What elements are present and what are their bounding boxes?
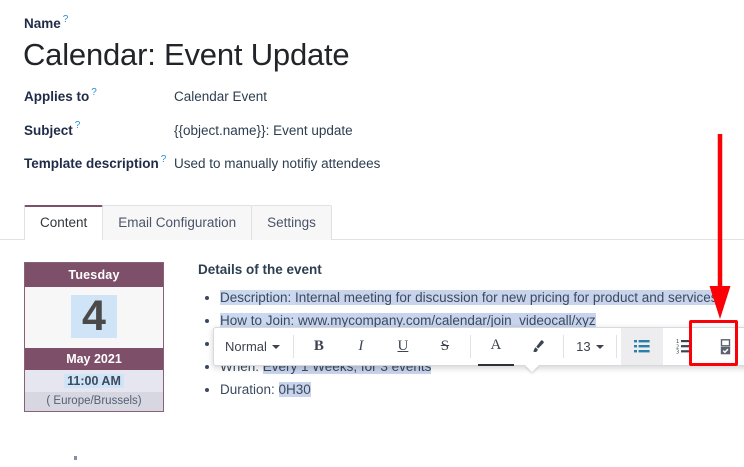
item-prefix: Duration: — [220, 382, 279, 397]
item-value: Internal meeting for discussion for new … — [295, 290, 717, 305]
field-row-subject: Subject? {{object.name}}: Event update — [24, 120, 744, 139]
toolbar-divider — [293, 335, 294, 358]
name-label-text: Name — [24, 16, 61, 31]
card-day-box: 4 — [25, 287, 163, 349]
tab-content[interactable]: Content — [24, 205, 103, 240]
rich-text-toolbar[interactable]: Normal B I U S A 13 — [213, 327, 744, 366]
font-size-dropdown[interactable]: 13 — [568, 328, 612, 365]
name-field-label: Name? — [24, 14, 744, 33]
card-time: 11:00 AM — [25, 370, 163, 392]
applies-to-label: Applies to — [24, 89, 89, 104]
help-icon-name[interactable]: ? — [63, 14, 69, 25]
event-details-heading: Details of the event — [198, 262, 744, 277]
card-time-text: 11:00 AM — [64, 374, 124, 388]
tab-bar: Content Email Configuration Settings — [0, 205, 744, 240]
font-size-label: 13 — [576, 339, 590, 354]
applies-to-label-cell: Applies to? — [24, 87, 174, 106]
item-value: www.mycompany.com/calendar/join_videocal… — [298, 313, 596, 328]
email-template-form-page: Name? Calendar: Event Update Applies to?… — [0, 0, 744, 467]
card-day-of-week: Tuesday — [25, 263, 163, 287]
italic-button[interactable]: I — [340, 328, 382, 365]
unordered-list-icon[interactable] — [621, 328, 663, 365]
card-timezone: ( Europe/Brussels) — [25, 392, 163, 411]
applies-to-value[interactable]: Calendar Event — [174, 89, 267, 104]
svg-text:3: 3 — [676, 349, 679, 354]
template-description-label: Template description — [24, 156, 159, 171]
paragraph-style-dropdown[interactable]: Normal — [216, 328, 289, 365]
help-icon-applies-to[interactable]: ? — [91, 87, 97, 98]
page-artifact — [74, 456, 77, 460]
text-color-button[interactable]: A — [475, 328, 517, 365]
toolbar-divider — [616, 335, 617, 358]
list-item[interactable]: Duration: 0H30 — [220, 379, 744, 401]
template-description-label-cell: Template description? — [24, 154, 174, 173]
field-row-applies-to: Applies to? Calendar Event — [24, 87, 744, 106]
form-header: Name? Calendar: Event Update Applies to?… — [0, 0, 744, 173]
toolbar-divider — [563, 335, 564, 358]
underline-button[interactable]: U — [382, 328, 424, 365]
content-panel: Tuesday 4 May 2021 11:00 AM ( Europe/Bru… — [0, 240, 744, 413]
chevron-down-icon — [596, 345, 604, 349]
card-month-year: May 2021 — [25, 348, 163, 370]
page-title: Calendar: Event Update — [23, 37, 744, 73]
item-prefix: How to Join: — [220, 313, 298, 328]
annotation-arrow-icon — [708, 134, 732, 320]
item-prefix: Description: — [220, 290, 295, 305]
strikethrough-button[interactable]: S — [424, 328, 466, 365]
field-row-template-description: Template description? Used to manually n… — [24, 154, 744, 173]
subject-label: Subject — [24, 123, 73, 138]
event-date-card: Tuesday 4 May 2021 11:00 AM ( Europe/Bru… — [24, 262, 164, 413]
card-day-number: 4 — [71, 295, 117, 339]
help-icon-template-description[interactable]: ? — [161, 154, 167, 165]
toolbar-divider — [470, 335, 471, 358]
subject-label-cell: Subject? — [24, 120, 174, 139]
tab-settings[interactable]: Settings — [251, 205, 332, 240]
bold-button[interactable]: B — [298, 328, 340, 365]
paragraph-style-label: Normal — [225, 339, 267, 354]
tab-email-configuration[interactable]: Email Configuration — [102, 205, 252, 240]
template-description-value[interactable]: Used to manually notifiy attendees — [174, 156, 380, 171]
annotation-highlight-box — [689, 320, 738, 366]
subject-value[interactable]: {{object.name}}: Event update — [174, 123, 353, 138]
help-icon-subject[interactable]: ? — [75, 120, 81, 131]
chevron-down-icon — [272, 345, 280, 349]
item-value: 0H30 — [279, 382, 311, 397]
list-item[interactable]: Description: Internal meeting for discus… — [220, 287, 744, 309]
paint-brush-icon[interactable] — [517, 328, 559, 365]
